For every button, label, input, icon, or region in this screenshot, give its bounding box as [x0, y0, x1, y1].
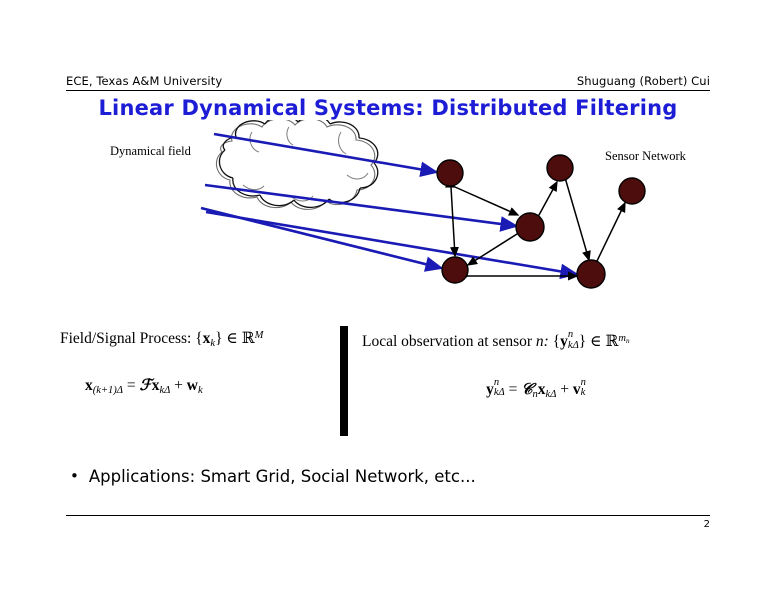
- reals-dimension: mn: [618, 333, 629, 344]
- membership-symbol: ∈: [226, 330, 237, 347]
- edge-n6-n5: [597, 203, 625, 261]
- state-variable-subscript: kΔ: [159, 385, 170, 396]
- bullet-marker-icon: •: [70, 468, 79, 485]
- header-affiliation: ECE, Texas A&M University: [66, 74, 222, 88]
- slide: ECE, Texas A&M University Shuguang (Robe…: [0, 0, 776, 600]
- equation-lhs-subscript: kΔ: [494, 388, 505, 399]
- observation-operator: 𝒞: [521, 378, 532, 397]
- equation-lhs-indices: nkΔ: [494, 378, 505, 400]
- state-variable-subscript: kΔ: [546, 388, 557, 399]
- sensor-node[interactable]: [437, 160, 463, 186]
- field-process-statement: Field/Signal Process: {xk} ∈ ℝM: [60, 330, 335, 350]
- sensor-node[interactable]: [547, 155, 573, 181]
- right-math-column: Local observation at sensor n: {ynkΔ} ∈ …: [362, 330, 710, 400]
- edge-n2-n6: [566, 181, 589, 260]
- field-process-lead: Field/Signal Process:: [60, 330, 191, 347]
- process-noise: w: [187, 377, 198, 394]
- bullet-text: Applications: Smart Grid, Social Network…: [89, 468, 476, 487]
- page-number: 2: [704, 519, 710, 530]
- observation-noise-indices: nk: [581, 378, 586, 400]
- set-close-brace: }: [579, 333, 586, 350]
- observation-equation: ynkΔ = 𝒞nxkΔ + vnk: [362, 378, 710, 400]
- reals-dimension-index: n: [626, 337, 630, 345]
- reals-symbol: ℝ: [242, 329, 255, 347]
- observation-symbol: y: [560, 333, 568, 350]
- edge-n1-n3: [455, 187, 518, 215]
- membership-symbol: ∈: [590, 333, 601, 350]
- set-open-brace: {: [195, 330, 202, 347]
- reals-dimension: M: [255, 330, 264, 341]
- equals-sign: =: [127, 377, 136, 394]
- header-author: Shuguang (Robert) Cui: [577, 74, 710, 88]
- sensor-node[interactable]: [442, 257, 468, 283]
- state-variable: x: [538, 380, 546, 397]
- observation-subscript: kΔ: [568, 341, 579, 352]
- page-title: Linear Dynamical Systems: Distributed Fi…: [0, 96, 776, 120]
- reals-symbol: ℝ: [605, 332, 618, 350]
- left-math-column: Field/Signal Process: {xk} ∈ ℝM x(k+1)Δ …: [60, 330, 335, 396]
- observation-indices: nkΔ: [568, 330, 579, 352]
- edge-n3-n2: [539, 182, 557, 215]
- sensor-index: n:: [536, 333, 549, 350]
- applications-bullet: • Applications: Smart Grid, Social Netwo…: [70, 468, 690, 487]
- math-column-divider: [340, 326, 348, 436]
- observation-statement: Local observation at sensor n: {ynkΔ} ∈ …: [362, 330, 710, 352]
- sensor-network-label: Sensor Network: [605, 149, 686, 164]
- transition-operator: ℱ: [140, 375, 152, 394]
- observation-noise: v: [573, 380, 581, 397]
- footer-divider: [66, 515, 710, 516]
- process-noise-subscript: k: [198, 385, 203, 396]
- observation-lead: Local observation at sensor: [362, 333, 532, 350]
- equation-lhs-symbol: y: [486, 380, 494, 397]
- equation-lhs-subscript: (k+1)Δ: [93, 385, 123, 396]
- header-divider: [66, 90, 710, 91]
- observation-noise-subscript: k: [581, 388, 586, 399]
- equals-sign: =: [509, 380, 518, 397]
- plus-sign: +: [560, 380, 569, 397]
- sensor-node[interactable]: [577, 260, 605, 288]
- dynamical-field-label: Dynamical field: [110, 144, 191, 159]
- plus-sign: +: [174, 377, 183, 394]
- sensor-node[interactable]: [619, 178, 645, 204]
- state-equation: x(k+1)Δ = ℱxkΔ + wk: [60, 376, 335, 397]
- set-close-brace: }: [215, 330, 222, 347]
- equation-lhs-symbol: x: [85, 377, 93, 394]
- sensor-node[interactable]: [516, 213, 544, 241]
- edge-n1-n4: [451, 187, 455, 256]
- reals-dimension-symbol: m: [618, 333, 626, 344]
